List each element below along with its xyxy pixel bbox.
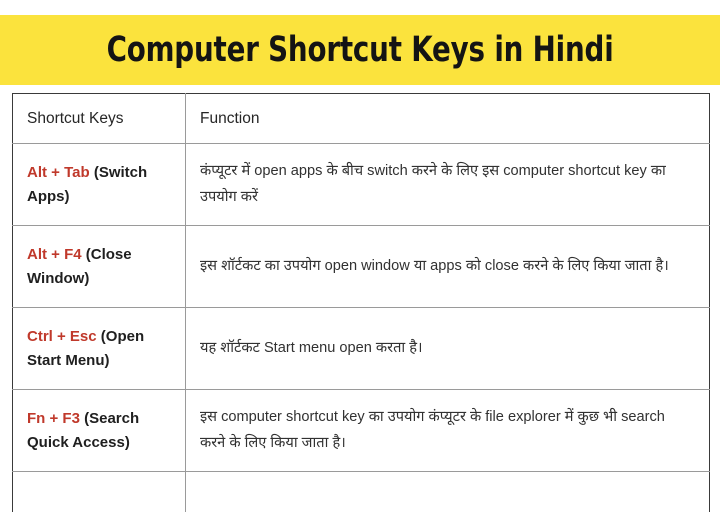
column-header-shortcut-keys: Shortcut Keys — [13, 94, 186, 144]
page-title: Computer Shortcut Keys in Hindi — [107, 33, 614, 68]
shortcut-keys-cell: Alt + Tab (Switch Apps) — [13, 144, 186, 226]
table-row: Alt + Tab (Switch Apps) कंप्यूटर में ope… — [13, 144, 710, 226]
shortcut-keys-cell: Fn + F3 (Search Quick Access) — [13, 390, 186, 472]
shortcut-keys-cell: Ctrl + Esc (Open Start Menu) — [13, 308, 186, 390]
function-cell: इस computer shortcut key का उपयोग कंप्यू… — [186, 390, 710, 472]
table-body: Alt + Tab (Switch Apps) कंप्यूटर में ope… — [13, 144, 710, 512]
page-root: Computer Shortcut Keys in Hindi Shortcut… — [0, 0, 720, 480]
function-cell-partial — [186, 472, 710, 512]
table-header-row: Shortcut Keys Function — [13, 94, 710, 144]
function-cell: कंप्यूटर में open apps के बीच switch करन… — [186, 144, 710, 226]
key-combo-text: Alt + Tab — [27, 164, 90, 181]
table-row-partial — [13, 472, 710, 512]
key-combo-text: Fn + F3 — [27, 410, 80, 427]
shortcut-keys-table: Shortcut Keys Function Alt + Tab (Switch… — [12, 93, 710, 512]
key-combo-text: Alt + F4 — [27, 246, 82, 263]
key-combo-text: Ctrl + Esc — [27, 328, 97, 345]
column-header-function: Function — [186, 94, 710, 144]
shortcut-keys-cell-partial — [13, 472, 186, 512]
shortcut-keys-cell: Alt + F4 (Close Window) — [13, 226, 186, 308]
function-cell: यह शॉर्टकट Start menu open करता है। — [186, 308, 710, 390]
table-row: Fn + F3 (Search Quick Access) इस compute… — [13, 390, 710, 472]
function-cell: इस शॉर्टकट का उपयोग open window या apps … — [186, 226, 710, 308]
title-banner: Computer Shortcut Keys in Hindi — [0, 15, 720, 85]
table-head: Shortcut Keys Function — [13, 94, 710, 144]
table-row: Alt + F4 (Close Window) इस शॉर्टकट का उप… — [13, 226, 710, 308]
table-row: Ctrl + Esc (Open Start Menu) यह शॉर्टकट … — [13, 308, 710, 390]
